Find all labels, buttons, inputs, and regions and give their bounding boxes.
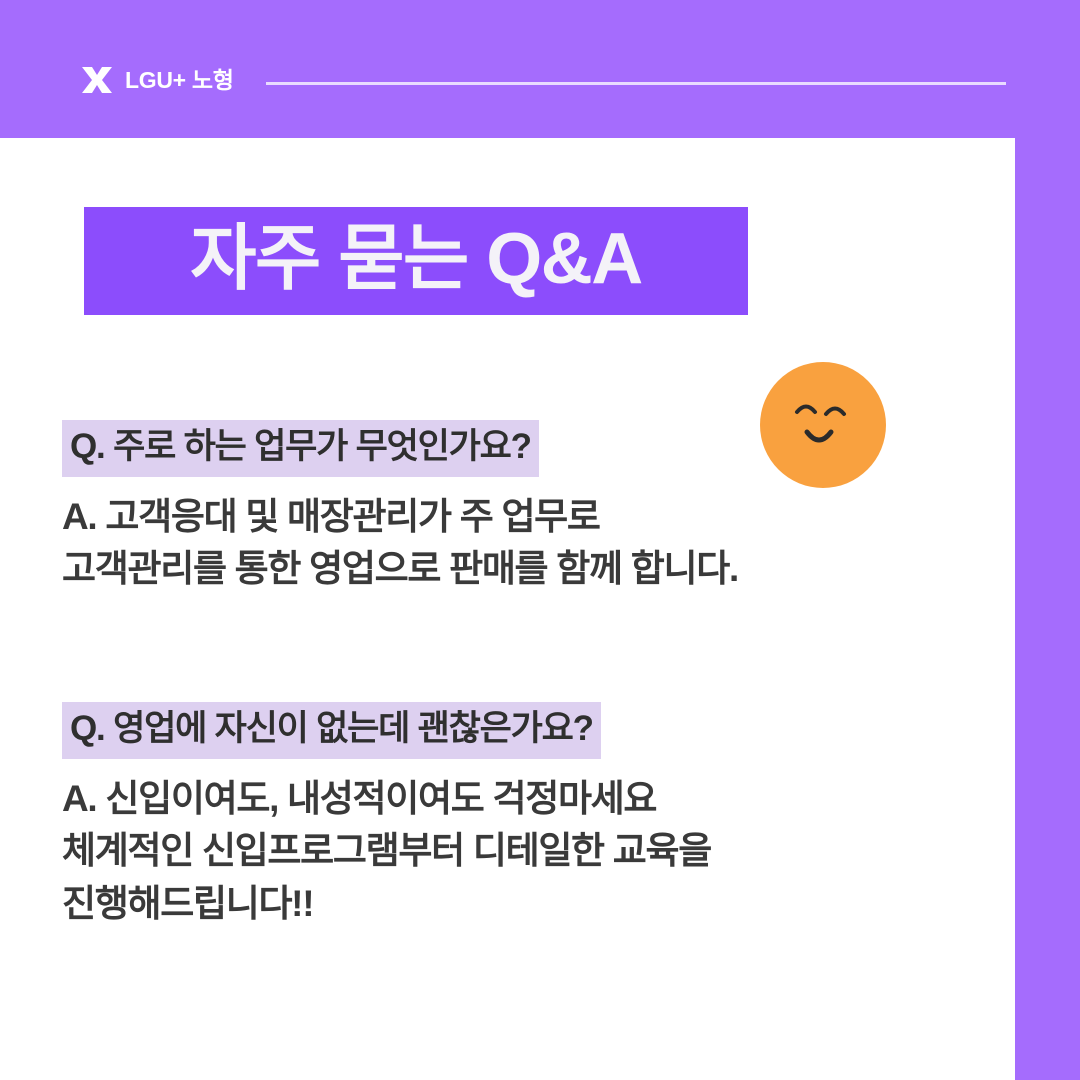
lgu-x-logo-icon: [82, 67, 112, 93]
qa-item-1: Q. 주로 하는 업무가 무엇인가요? A. 고객응대 및 매장관리가 주 업무…: [62, 420, 738, 596]
header-divider: [266, 82, 1006, 85]
answer-1-line-2: 고객관리를 통한 영업으로 판매를 함께 합니다.: [62, 543, 738, 596]
answer-2-line-3: 진행해드립니다!!: [62, 878, 711, 931]
page-title: 자주 묻는 Q&A: [190, 223, 641, 295]
answer-1-line-1: A. 고객응대 및 매장관리가 주 업무로: [62, 491, 738, 544]
qa-card: LGU+ 노형 자주 묻는 Q&A Q. 주로 하는 업무가 무엇인가요? A.…: [0, 0, 1080, 1080]
answer-2: A. 신입이여도, 내성적이여도 걱정마세요 체계적인 신입프로그램부터 디테일…: [62, 773, 711, 931]
qa-item-2: Q. 영업에 자신이 없는데 괜찮은가요? A. 신입이여도, 내성적이여도 걱…: [62, 702, 711, 930]
answer-1: A. 고객응대 및 매장관리가 주 업무로 고객관리를 통한 영업으로 판매를 …: [62, 491, 738, 596]
page-header: LGU+ 노형: [0, 0, 1080, 138]
question-1: Q. 주로 하는 업무가 무엇인가요?: [62, 420, 539, 477]
right-purple-strip: [1015, 0, 1080, 1080]
title-banner: 자주 묻는 Q&A: [84, 207, 748, 315]
answer-2-line-1: A. 신입이여도, 내성적이여도 걱정마세요: [62, 773, 711, 826]
brand-lockup: LGU+ 노형: [82, 62, 234, 98]
smiling-face-icon: [760, 362, 886, 488]
brand-name: LGU+ 노형: [125, 69, 234, 92]
answer-2-line-2: 체계적인 신입프로그램부터 디테일한 교육을: [62, 825, 711, 878]
question-2: Q. 영업에 자신이 없는데 괜찮은가요?: [62, 702, 601, 759]
